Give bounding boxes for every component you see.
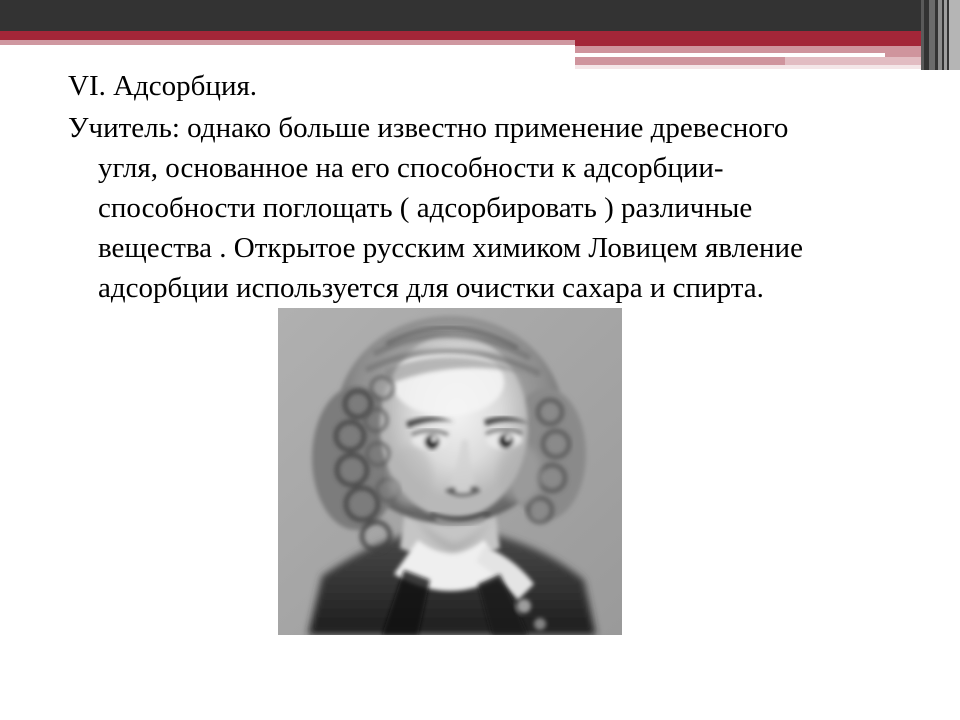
body-line: Учитель: однако больше известно применен… — [68, 108, 898, 148]
presentation-slide: VI. Адсорбция. Учитель: однако больше из… — [0, 0, 960, 720]
header-decoration — [0, 0, 960, 70]
body-line: вещества . Открытое русским химиком Лови… — [68, 228, 898, 268]
body-line: способности поглощать ( адсорбировать ) … — [68, 188, 898, 228]
header-pink-band-lower-right — [575, 57, 785, 65]
slide-body-text: Учитель: однако больше известно применен… — [68, 108, 898, 308]
header-faint-band — [575, 65, 960, 69]
portrait-engraving-graphic — [278, 308, 622, 635]
slide-title: VI. Адсорбция. — [68, 67, 257, 105]
header-dark-band — [0, 0, 960, 31]
portrait-lovits-image — [278, 308, 622, 635]
body-line: адсорбции используется для очистки сахар… — [68, 268, 898, 308]
body-line: угля, основанное на его способности к ад… — [68, 148, 898, 188]
header-pink-band-left — [0, 40, 575, 45]
header-vertical-stripe — [949, 0, 960, 70]
header-crimson-band-right — [575, 31, 960, 46]
header-pink-band-upper-right — [575, 46, 960, 53]
